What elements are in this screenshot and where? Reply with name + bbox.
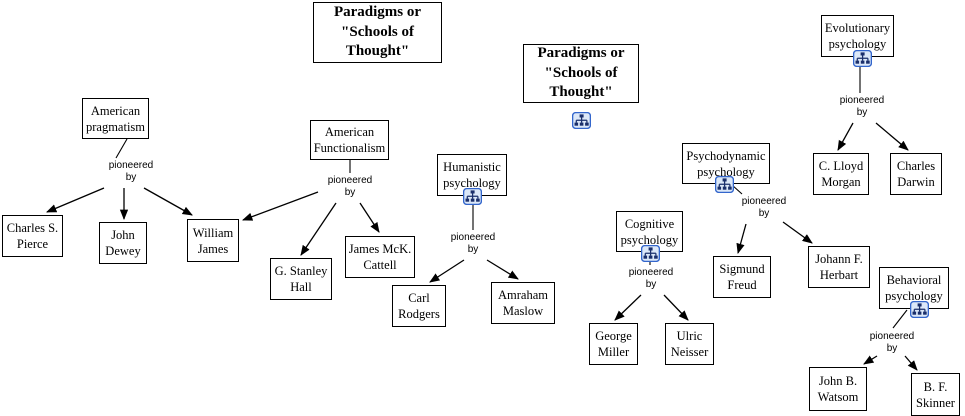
connection-arrow [430,260,464,282]
concept-node-william-james[interactable]: WilliamJames [187,219,239,262]
link-phrase-link-pragmatism[interactable]: pioneeredby [100,160,162,184]
concept-node-label: C. LloydMorgan [819,158,863,190]
link-phrase-link-cognitive[interactable]: pioneeredby [620,267,682,291]
link-phrase-link-behavioral[interactable]: pioneeredby [861,331,923,355]
concept-node-label: Humanisticpsychology [443,159,501,191]
concept-node-c-lloyd-morgan[interactable]: C. LloydMorgan [813,153,869,195]
concept-node-label: Johann F.Herbart [815,251,863,283]
connection-arrow [360,203,379,232]
expand-node-icon[interactable] [463,188,482,205]
connection-arrow [615,295,641,320]
concept-node-george-miller[interactable]: GeorgeMiller [589,323,638,365]
concept-node-label: UlricNeisser [671,328,709,360]
concept-node-sigmund-freud[interactable]: SigmundFreud [713,256,771,298]
concept-node-label: Psychodynamicpsychology [686,148,765,180]
concept-node-charles-darwin[interactable]: CharlesDarwin [890,153,942,195]
concept-node-title1[interactable]: Paradigms or"Schools ofThought" [313,2,442,63]
link-phrase-link-evolutionary[interactable]: pioneeredby [831,95,893,119]
link-phrase-link-humanistic[interactable]: pioneeredby [442,232,504,256]
expand-node-icon[interactable] [853,50,872,67]
concept-node-label: Charles S.Pierce [7,220,58,252]
concept-node-g-stanley-hall[interactable]: G. StanleyHall [270,258,332,300]
concept-node-label: CarlRodgers [398,290,440,322]
concept-node-james-cattell[interactable]: James McK.Cattell [345,236,415,278]
concept-node-johann-herbart[interactable]: Johann F.Herbart [808,246,870,288]
connection-stem [116,139,127,158]
concept-node-label: AmrahamMaslow [498,287,548,319]
connection-arrow [243,192,318,220]
connection-arrow [738,224,746,253]
connection-arrow [664,295,688,320]
concept-node-label: SigmundFreud [719,261,764,293]
link-phrase-label: pioneeredby [840,95,884,118]
concept-node-label: Cognitivepsychology [621,216,679,248]
expand-node-icon[interactable] [572,112,591,129]
concept-node-b-f-skinner[interactable]: B. F.Skinner [911,373,960,416]
expand-node-icon[interactable] [715,176,734,193]
connection-arrow [876,123,908,150]
link-phrase-link-psychodynamic[interactable]: pioneeredby [733,196,795,220]
link-phrase-label: pioneeredby [870,331,914,354]
concept-node-john-watsom[interactable]: John B.Watsom [809,367,867,411]
link-phrase-label: pioneeredby [629,267,673,290]
connection-stem [893,310,907,328]
concept-node-label: CharlesDarwin [897,158,935,190]
concept-node-label: John B.Watsom [818,373,859,405]
connection-arrow [905,356,917,370]
link-phrase-label: pioneeredby [328,175,372,198]
concept-node-charles-pierce[interactable]: Charles S.Pierce [2,215,63,257]
concept-node-label: Paradigms or"Schools ofThought" [334,3,421,63]
concept-map-canvas[interactable]: Paradigms or"Schools ofThought"Paradigms… [0,0,965,416]
expand-node-icon[interactable] [641,245,660,262]
link-phrase-label: pioneeredby [451,232,495,255]
connection-arrow [47,188,104,212]
concept-node-label: WilliamJames [193,225,233,257]
connection-arrow [783,222,812,243]
concept-node-john-dewey[interactable]: JohnDewey [99,222,147,264]
concept-node-label: JohnDewey [105,227,140,259]
concept-node-label: G. StanleyHall [275,263,328,295]
connection-arrow-layer [0,0,965,416]
concept-node-label: B. F.Skinner [916,379,955,411]
concept-node-label: Evolutionarypsychology [825,20,890,52]
concept-node-label: Americanpragmatism [86,103,145,135]
concept-node-ulric-neisser[interactable]: UlricNeisser [665,323,714,365]
concept-node-label: Behavioralpsychology [885,272,943,304]
connection-arrow [144,188,192,215]
concept-node-title2[interactable]: Paradigms or"Schools ofThought" [523,44,639,103]
connection-arrow [838,123,853,150]
expand-node-icon[interactable] [910,301,929,318]
connection-arrow [301,203,336,255]
concept-node-label: GeorgeMiller [595,328,632,360]
concept-node-carl-rodgers[interactable]: CarlRodgers [392,285,446,327]
connection-arrow [864,356,877,364]
connection-arrow [487,260,518,279]
concept-node-american-pragmatism[interactable]: Americanpragmatism [82,98,149,139]
link-phrase-label: pioneeredby [742,196,786,219]
concept-node-amraham-maslow[interactable]: AmrahamMaslow [491,282,555,324]
concept-node-american-functionalism[interactable]: AmericanFunctionalism [310,120,389,160]
link-phrase-link-functionalism[interactable]: pioneeredby [319,175,381,199]
concept-node-label: AmericanFunctionalism [314,124,386,156]
concept-node-label: James McK.Cattell [349,241,412,273]
concept-node-label: Paradigms or"Schools ofThought" [537,44,624,104]
link-phrase-label: pioneeredby [109,160,153,183]
